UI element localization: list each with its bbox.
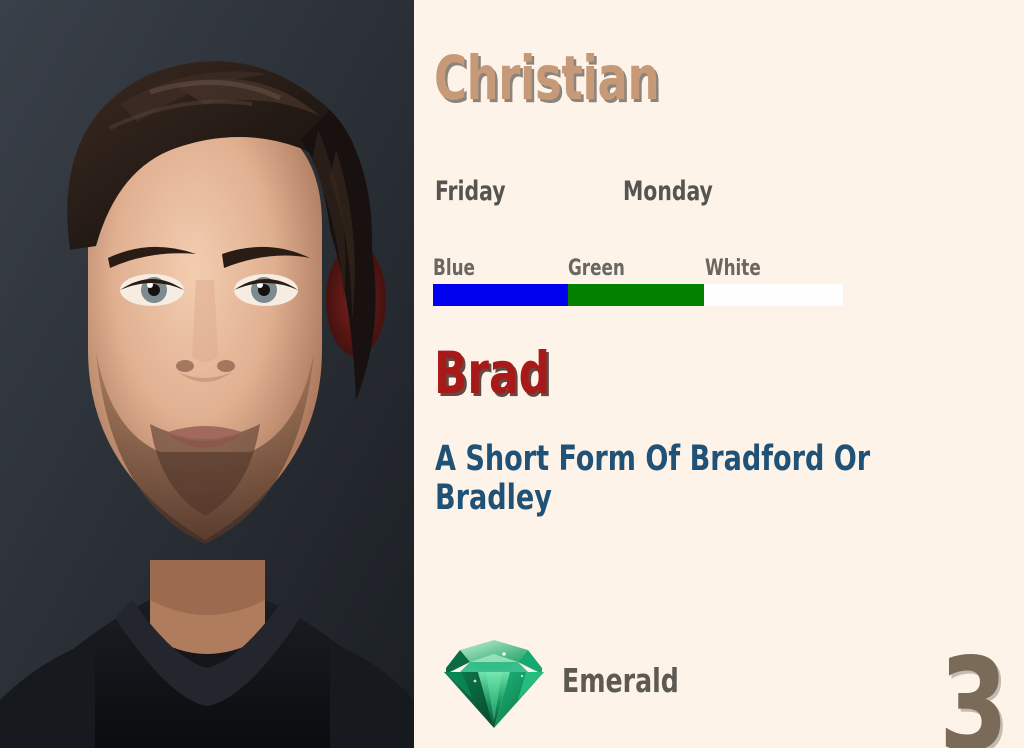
rank-number: 3 [939, 642, 1008, 748]
lucky-colors-labels: Blue Green White [433, 258, 843, 284]
emerald-gem-icon [438, 624, 550, 736]
lucky-color-segment-white [704, 284, 843, 306]
gemstone-label: Emerald [562, 664, 679, 697]
lucky-color-label-white: White [705, 258, 761, 280]
portrait-photo-image [0, 0, 414, 748]
lucky-colors-meter: Blue Green White [433, 258, 843, 306]
lucky-colors-bar [433, 284, 843, 306]
lucky-day-2: Monday [623, 178, 713, 205]
info-panel: Christian Friday Monday Blue Green White… [414, 0, 1024, 748]
lucky-color-segment-blue [433, 284, 568, 306]
lucky-day-1: Friday [435, 178, 593, 205]
lucky-days-row: Friday Monday [435, 178, 730, 205]
lucky-color-segment-green [568, 284, 703, 306]
lucky-color-label-green: Green [568, 258, 625, 280]
portrait-photo [0, 0, 414, 748]
lucky-color-label-blue: Blue [433, 258, 475, 280]
name-profile-card: Christian Friday Monday Blue Green White… [0, 0, 1024, 748]
name-meaning-text: A Short Form Of Bradford Or Bradley [435, 440, 951, 518]
gemstone-row: Emerald [438, 624, 699, 736]
nickname-heading: Brad [434, 344, 550, 402]
page-title: Christian [434, 48, 659, 109]
